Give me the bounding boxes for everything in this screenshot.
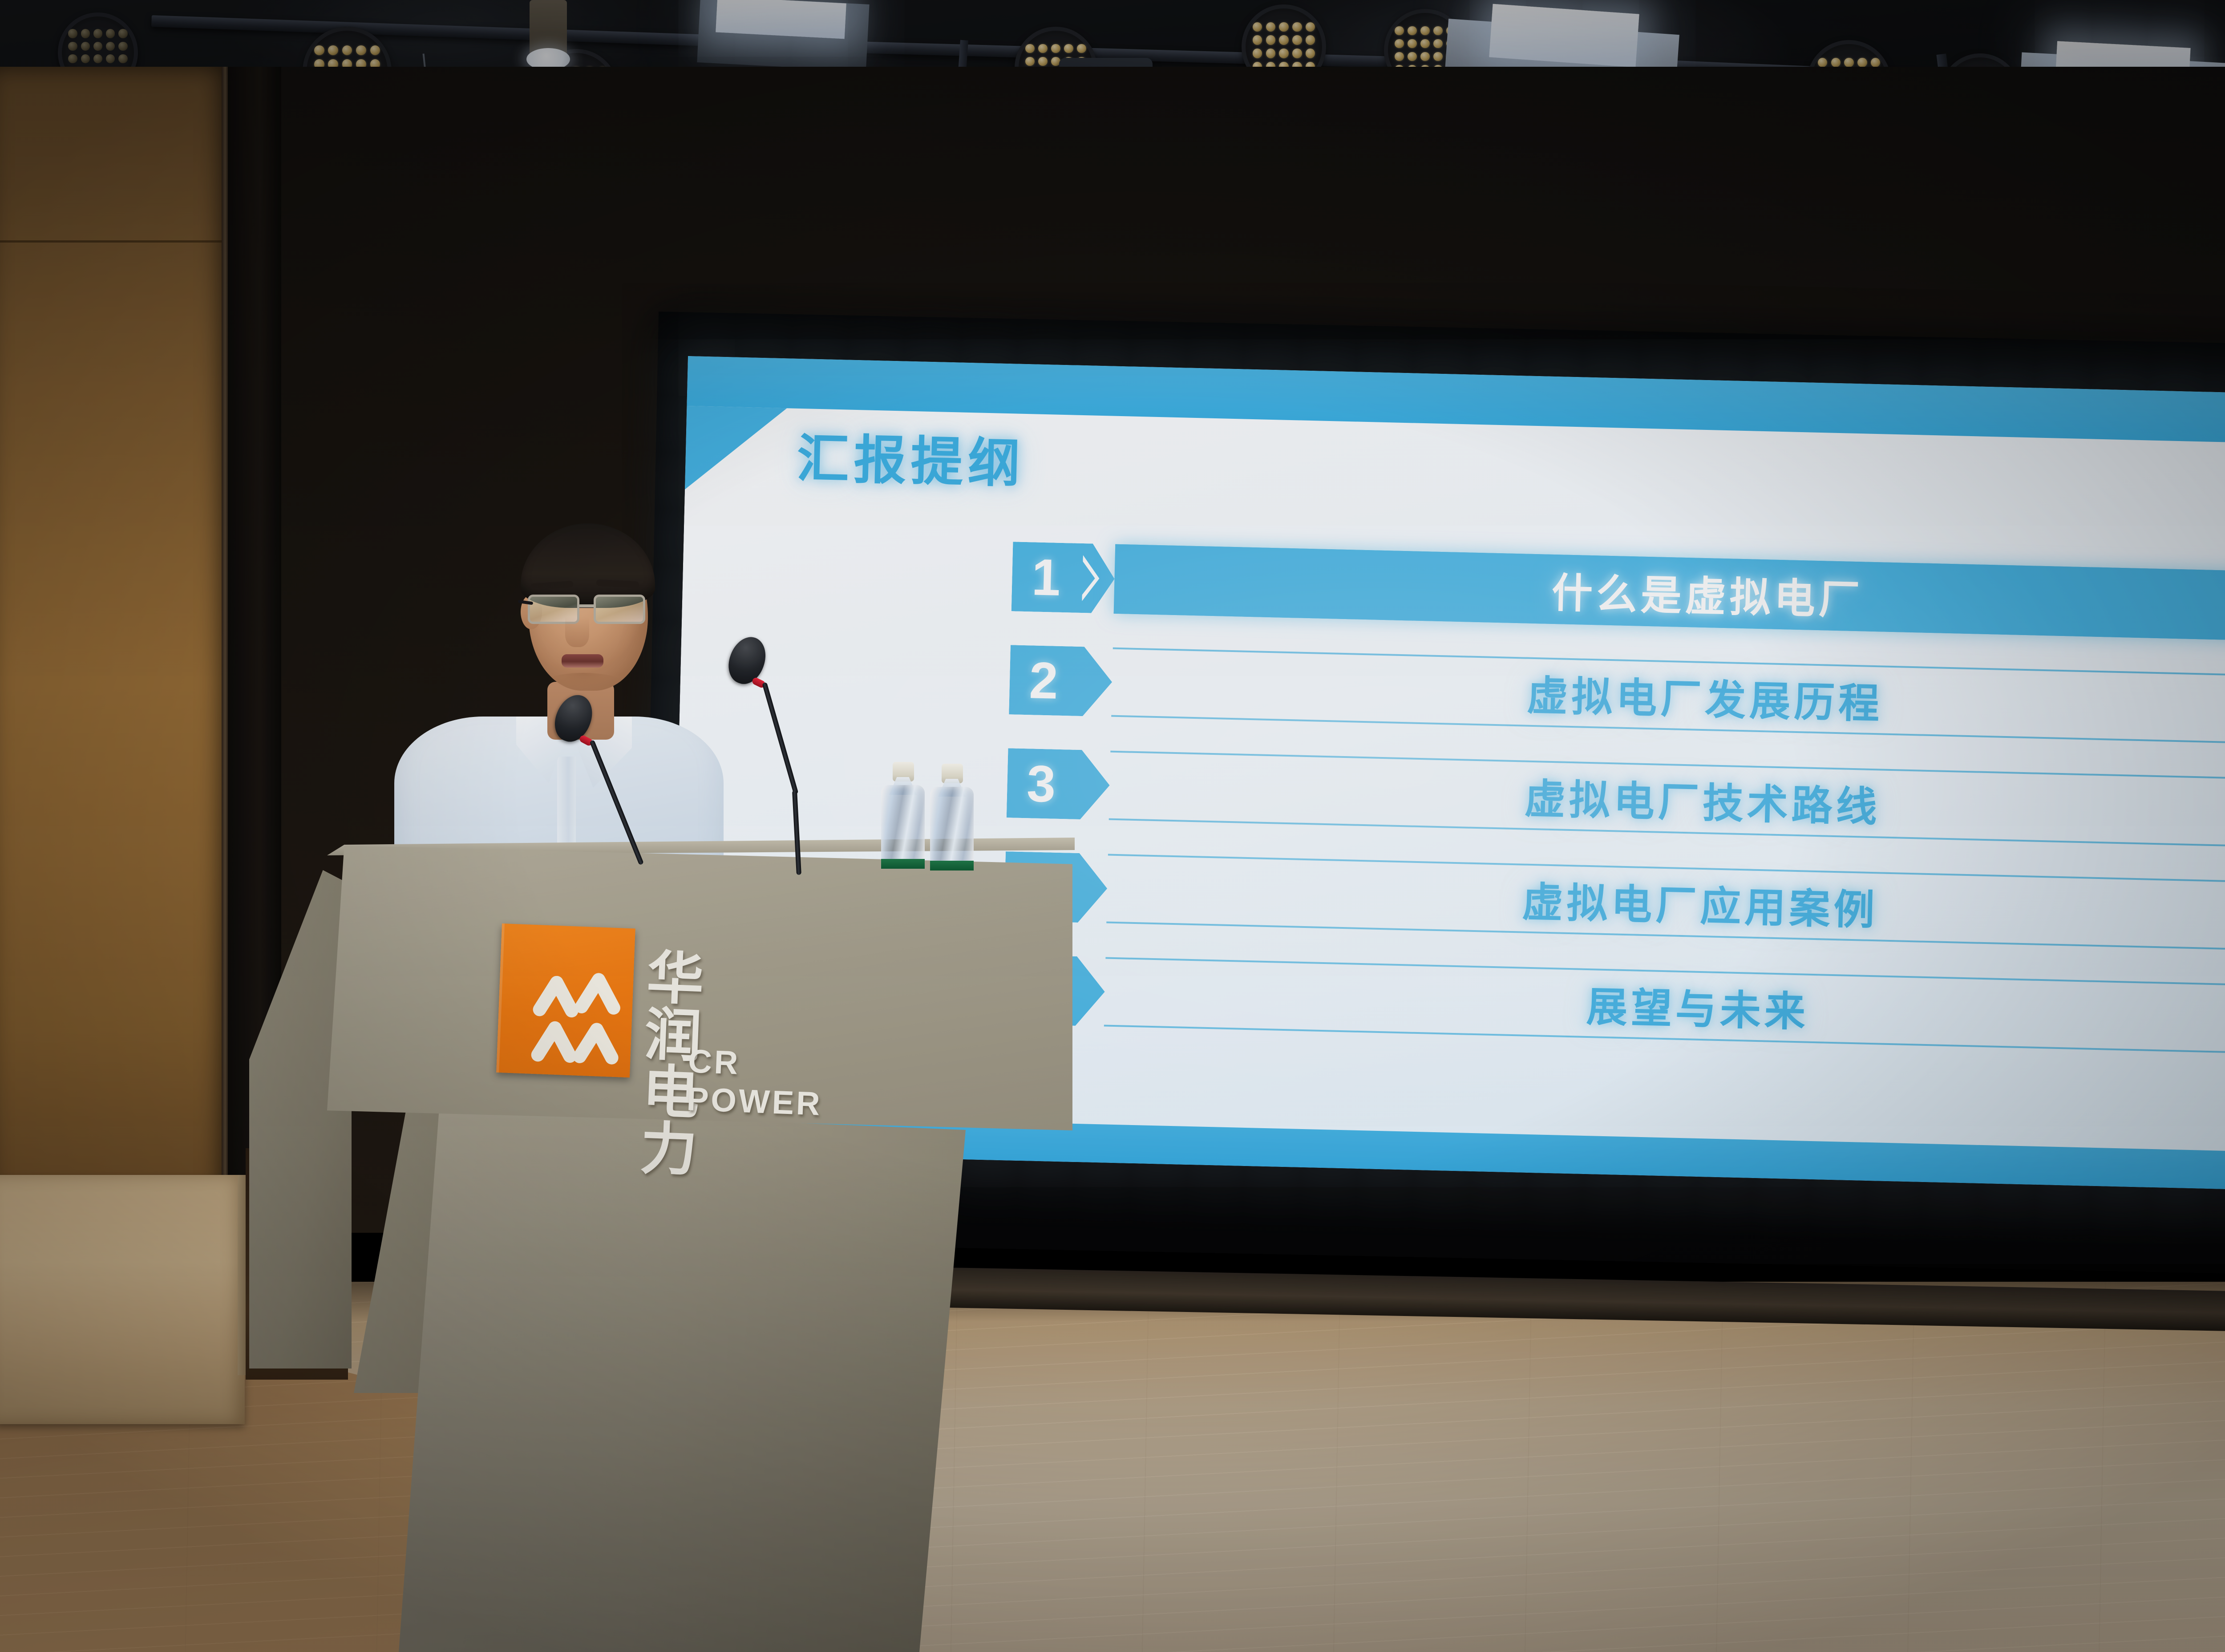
bottle-label	[881, 859, 925, 869]
microphone-gooseneck	[589, 740, 644, 865]
led-panel-light-icon	[1489, 4, 1639, 68]
outline-label-box: 虚拟电厂发展历程	[1111, 648, 2225, 745]
eyeglass-bridge	[578, 604, 595, 607]
outline-label: 什么是虚拟电厂	[1551, 559, 1864, 626]
eyeglasses-icon	[525, 592, 654, 629]
water-bottle[interactable]	[881, 762, 925, 869]
outline-label-box: 虚拟电厂技术路线	[1109, 751, 2225, 848]
outline-label-box: 虚拟电厂应用案例	[1106, 854, 2225, 952]
outline-label: 虚拟电厂发展历程	[1526, 662, 1884, 730]
podium-base-shading	[387, 1108, 966, 1652]
outline-number: 2	[1029, 654, 1059, 706]
water-bottle[interactable]	[930, 764, 974, 871]
bottle-body	[930, 787, 974, 871]
wood-panel-lower-left	[0, 1175, 245, 1424]
slide-title: 汇报提纲	[796, 416, 1026, 497]
outline-list: 1 什么是虚拟电厂 2 虚拟电厂发展历程 3	[1001, 542, 2225, 1088]
eyeglass-lens	[594, 595, 645, 624]
outline-row[interactable]: 2 虚拟电厂发展历程	[1009, 645, 2225, 745]
microphone-gooseneck	[762, 682, 798, 794]
microphone-gooseneck-lower	[792, 790, 801, 875]
outline-row[interactable]: 4 虚拟电厂应用案例	[1004, 851, 2225, 951]
slide-title-arrow-icon	[685, 406, 787, 492]
presenter-chin-shadow	[546, 673, 621, 691]
outline-label-box: 什么是虚拟电厂	[1114, 544, 2225, 642]
cr-power-chevrons-icon	[496, 923, 635, 1077]
outline-label: 虚拟电厂应用案例	[1521, 869, 1879, 936]
outline-row[interactable]: 3 虚拟电厂技术路线	[1007, 748, 2225, 848]
screenshot-root: 汇报提纲 1 什么是虚拟电厂 2 虚拟电厂发展历程	[0, 0, 2225, 1652]
outline-number-badge: 2	[1009, 645, 1113, 717]
outline-number: 1	[1031, 551, 1061, 603]
microphone-head	[723, 632, 772, 689]
outline-label-box: 展望与未来	[1104, 957, 2225, 1054]
outline-label: 虚拟电厂技术路线	[1524, 765, 1881, 833]
microphone-head	[549, 689, 599, 747]
presenter-nose	[565, 617, 589, 647]
outline-row[interactable]: 1 什么是虚拟电厂	[1011, 542, 2225, 641]
outline-number-badge: 3	[1007, 748, 1111, 820]
bottle-label	[930, 861, 974, 871]
led-panel-light-icon	[716, 0, 846, 39]
bottle-body	[881, 785, 925, 869]
gooseneck-microphone-icon[interactable]	[556, 694, 743, 881]
outline-number: 3	[1026, 757, 1056, 810]
outline-number-badge: 1	[1011, 542, 1116, 613]
brand-name-en: CR POWER	[686, 1042, 825, 1123]
wood-wall-panel-left	[0, 67, 231, 1300]
outline-row[interactable]: 5 展望与未来	[1002, 955, 2225, 1054]
presenter-mouth	[562, 654, 603, 668]
outline-label: 展望与未来	[1586, 973, 1810, 1038]
